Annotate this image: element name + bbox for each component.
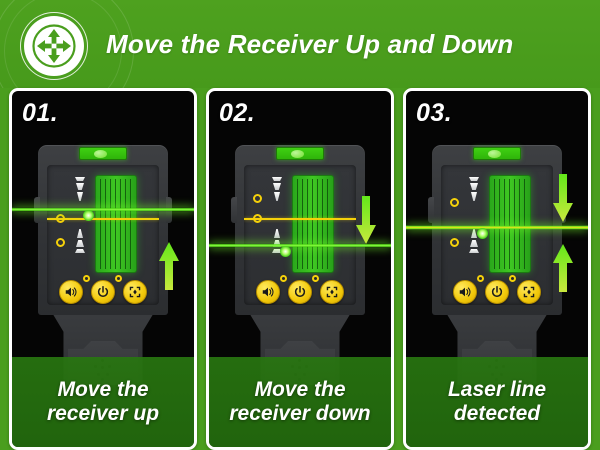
move-up-arrow-icon xyxy=(158,241,180,291)
green-display-bar xyxy=(489,175,531,273)
receiver-device-1 xyxy=(38,145,168,385)
laser-detection-dot-3 xyxy=(477,228,488,239)
step-caption-1: Move the receiver up xyxy=(12,357,194,447)
bubble-level xyxy=(473,147,521,160)
step-caption-2: Move the receiver down xyxy=(209,357,391,447)
step-number-2: 02. xyxy=(219,99,255,128)
power-button[interactable] xyxy=(288,280,312,304)
device-screen-3 xyxy=(441,165,553,305)
status-led-2 xyxy=(115,275,122,282)
green-display-bar xyxy=(95,175,137,273)
step-number-3: 03. xyxy=(416,99,452,128)
device-side-tab-left xyxy=(231,197,237,223)
target-button[interactable] xyxy=(517,280,541,304)
bubble-level xyxy=(276,147,324,160)
infographic-root: Move the Receiver Up and Down 01. xyxy=(0,0,600,450)
power-button[interactable] xyxy=(485,280,509,304)
device-screen-1 xyxy=(47,165,159,305)
volume-button[interactable] xyxy=(256,280,280,304)
marker-up-arrow-icon xyxy=(75,177,85,203)
green-display-bar xyxy=(292,175,334,273)
laser-detection-dot-2 xyxy=(280,246,291,257)
laser-detection-dot-1 xyxy=(83,210,94,221)
step-card-3[interactable]: 03. xyxy=(403,88,591,450)
step-number-1: 01. xyxy=(22,99,58,128)
target-button[interactable] xyxy=(320,280,344,304)
receiver-device-3 xyxy=(432,145,562,385)
step-caption-3: Laser line detected xyxy=(406,357,588,447)
receiver-device-2 xyxy=(235,145,365,385)
four-way-arrows-icon xyxy=(24,16,84,76)
steps-container: 01. xyxy=(0,88,600,450)
reference-dot-1 xyxy=(56,214,65,223)
marker-up-arrow-icon xyxy=(469,177,479,203)
status-led-2 xyxy=(509,275,516,282)
step-card-1[interactable]: 01. xyxy=(9,88,197,450)
move-down-arrow-icon xyxy=(552,173,574,223)
button-row-3 xyxy=(451,278,543,304)
marker-up-arrow-icon xyxy=(272,177,282,203)
marker-down-arrow-icon xyxy=(75,229,85,255)
device-side-tab-left xyxy=(428,197,434,223)
reference-dot-2 xyxy=(56,238,65,247)
volume-button[interactable] xyxy=(59,280,83,304)
laser-beam-line-3 xyxy=(406,225,588,230)
reference-dot-2 xyxy=(253,214,262,223)
device-upper-housing xyxy=(235,145,365,315)
status-led-1 xyxy=(477,275,484,282)
reference-dot-1 xyxy=(253,194,262,203)
header-bar: Move the Receiver Up and Down xyxy=(0,0,600,88)
power-button[interactable] xyxy=(91,280,115,304)
status-led-1 xyxy=(83,275,90,282)
device-screen-2 xyxy=(244,165,356,305)
step-card-2[interactable]: 02. xyxy=(206,88,394,450)
reference-dot-2 xyxy=(450,238,459,247)
reference-dot-1 xyxy=(450,198,459,207)
bubble-level xyxy=(79,147,127,160)
move-down-arrow-icon xyxy=(355,195,377,245)
page-title: Move the Receiver Up and Down xyxy=(106,0,513,88)
move-up-arrow-icon xyxy=(552,243,574,293)
target-button[interactable] xyxy=(123,280,147,304)
device-upper-housing xyxy=(432,145,562,315)
button-row-1 xyxy=(57,278,149,304)
volume-button[interactable] xyxy=(453,280,477,304)
laser-beam-line-1 xyxy=(12,207,194,212)
status-led-2 xyxy=(312,275,319,282)
button-row-2 xyxy=(254,278,346,304)
device-upper-housing xyxy=(38,145,168,315)
status-led-1 xyxy=(280,275,287,282)
